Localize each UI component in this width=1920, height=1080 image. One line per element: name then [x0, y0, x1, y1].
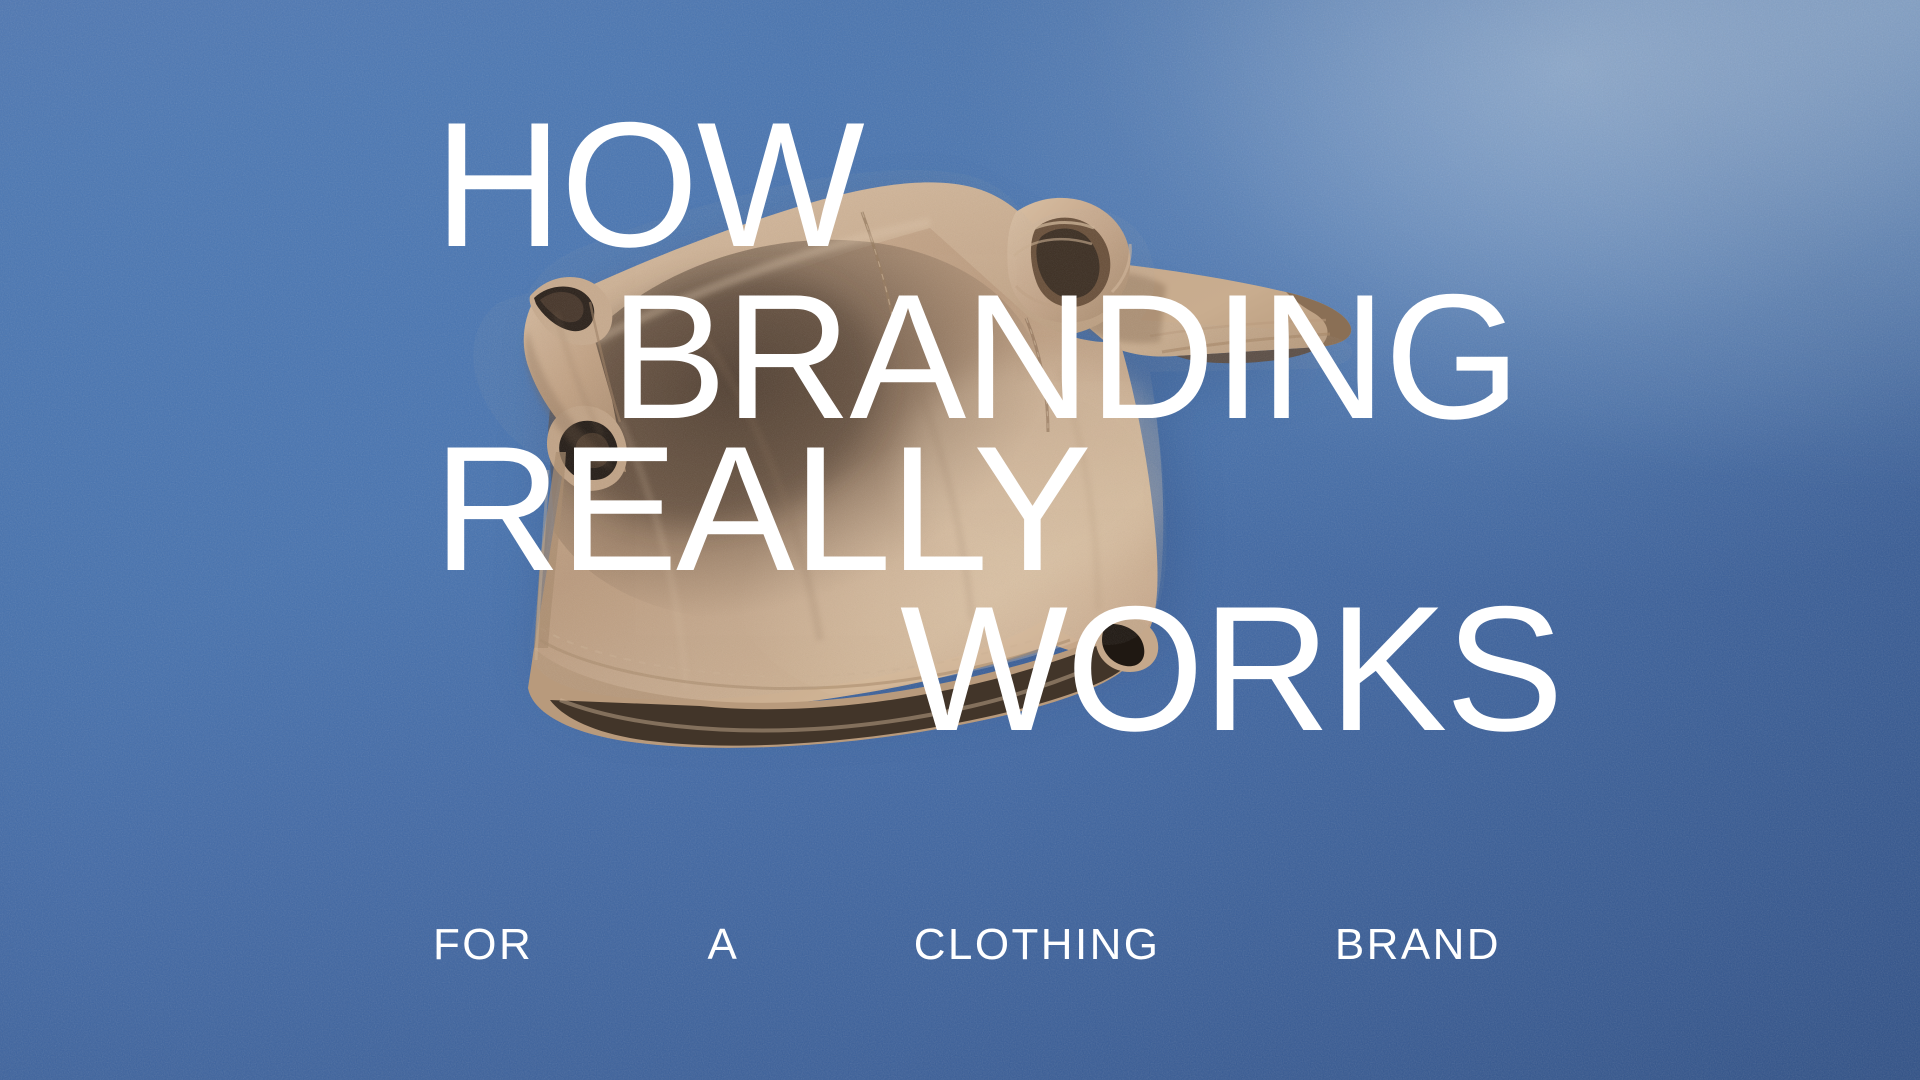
- poster-canvas: HOW BRANDING REALLY WORKS FOR A CLOTHING…: [0, 0, 1920, 1080]
- sky-vignette: [0, 0, 1920, 1080]
